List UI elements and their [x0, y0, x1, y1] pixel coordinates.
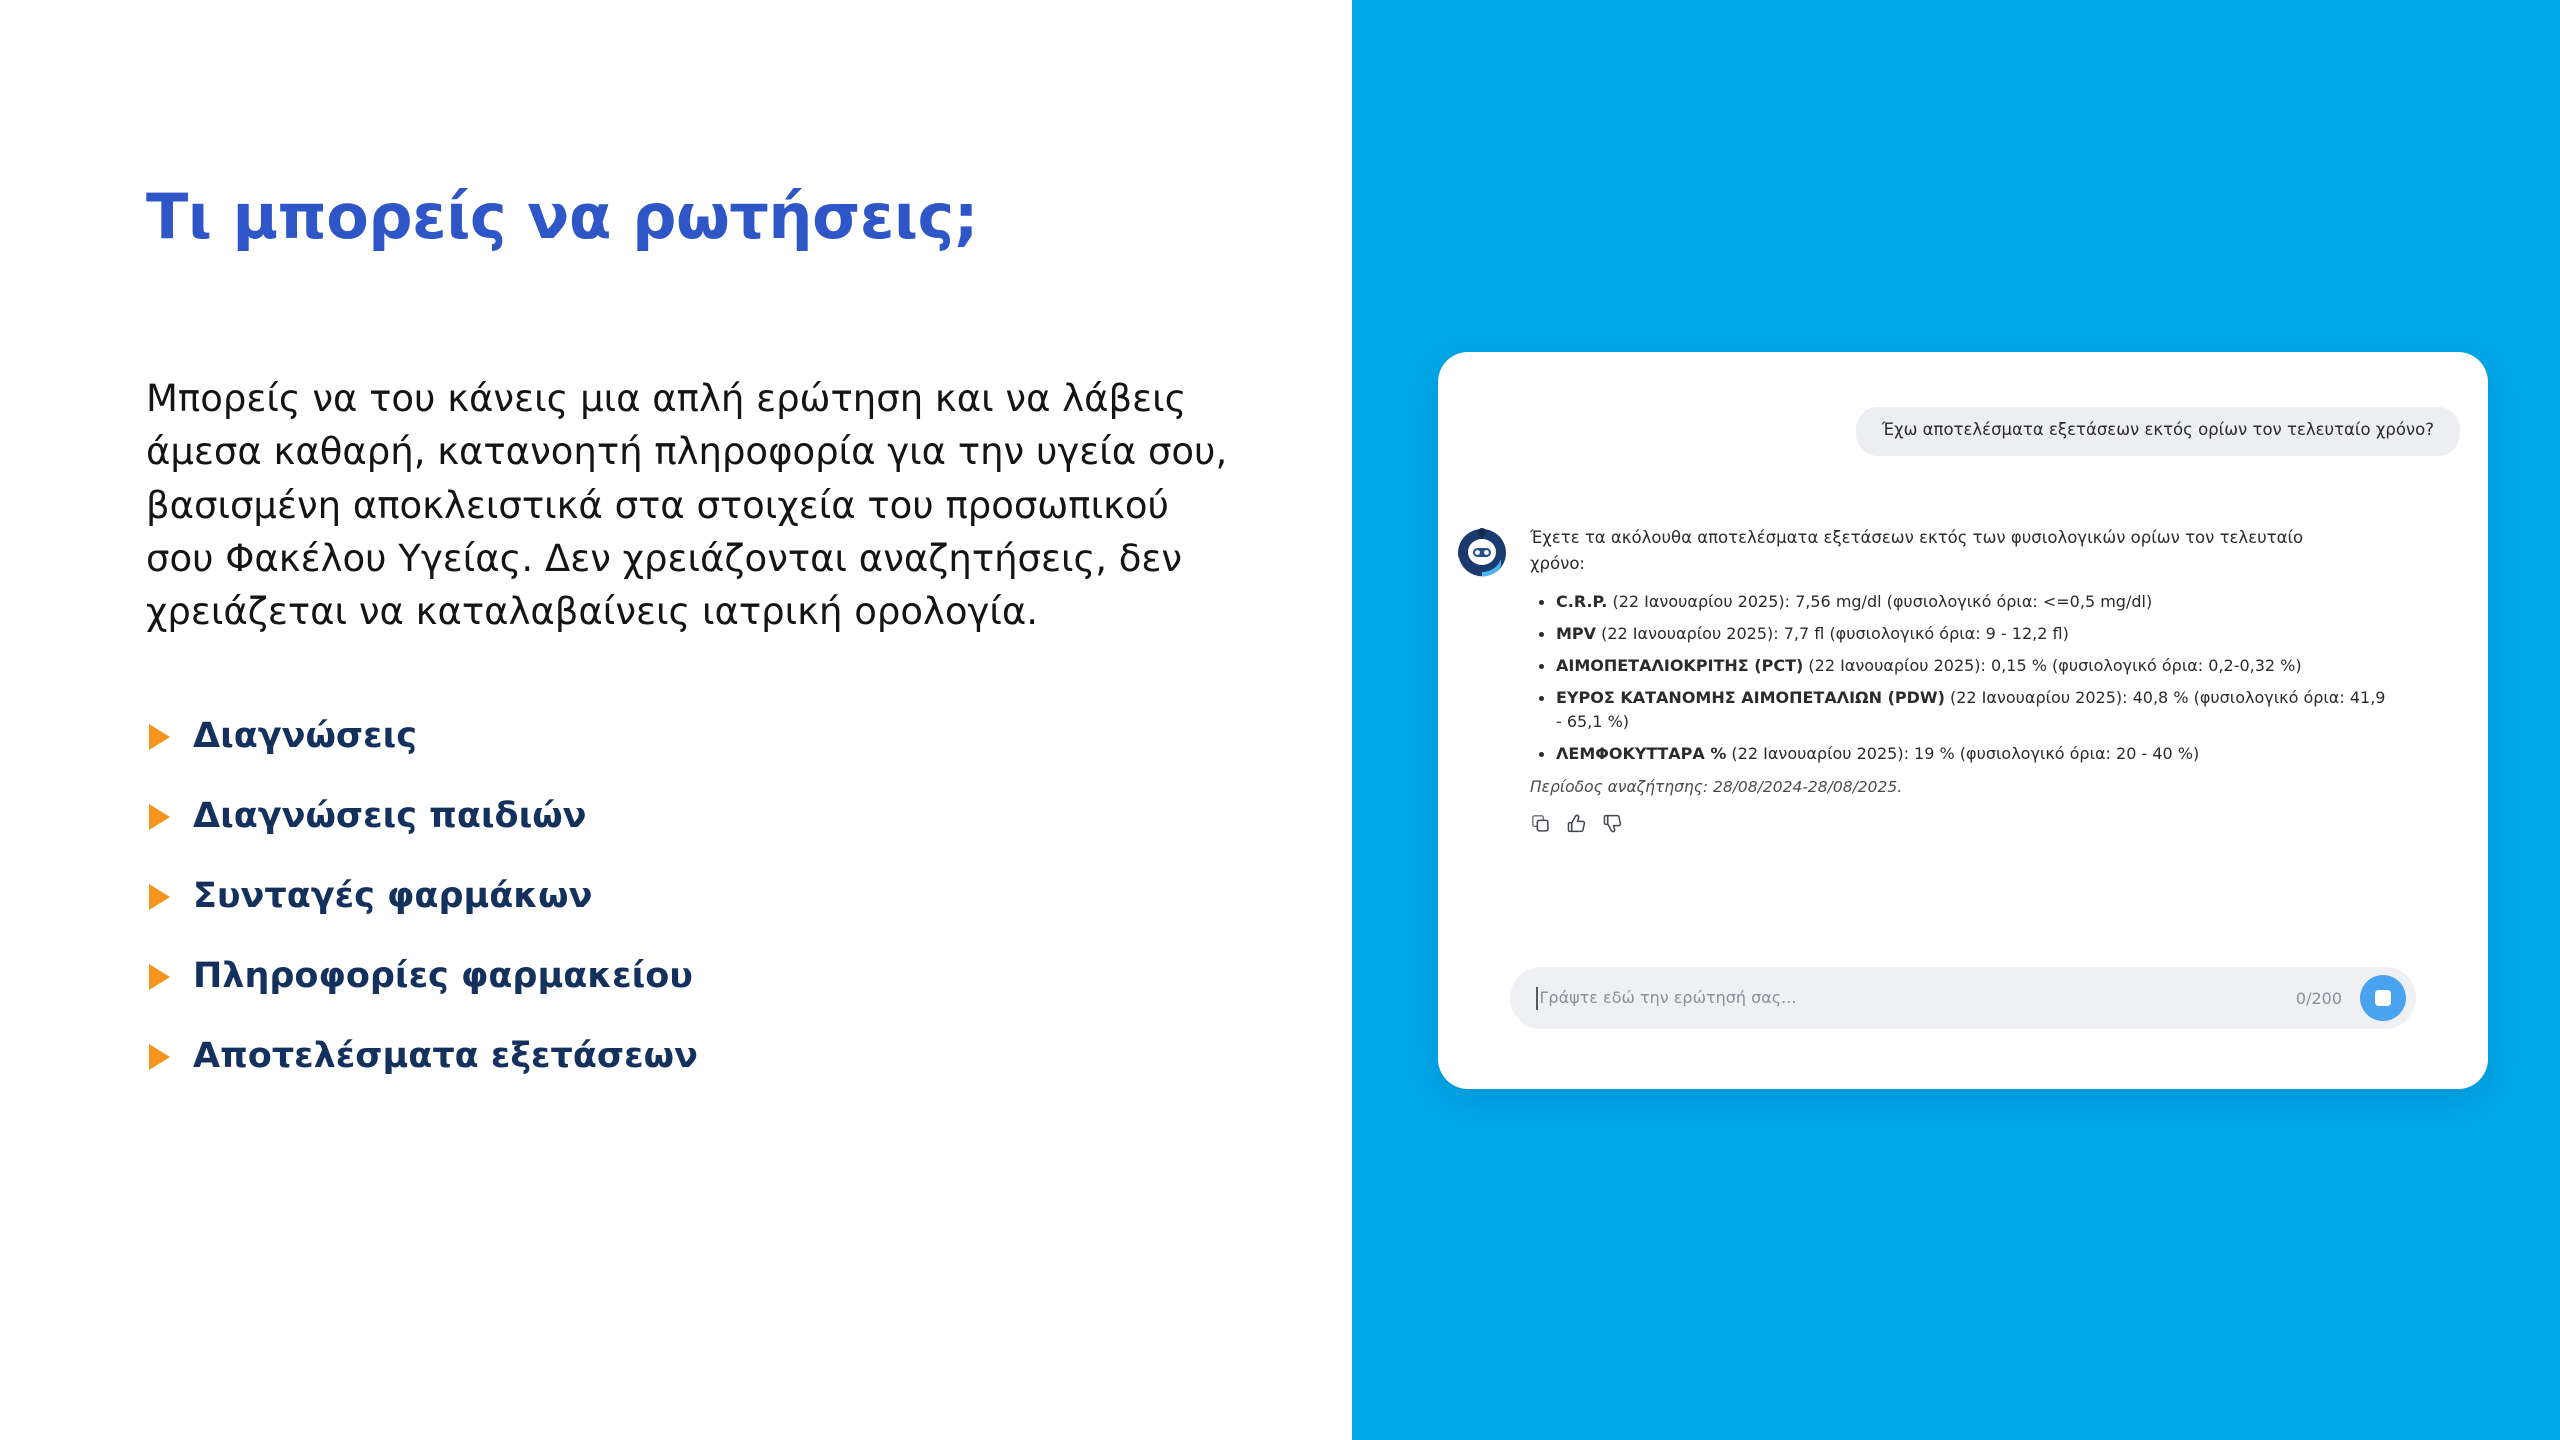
- bot-message-row: Έχετε τα ακόλουθα αποτελέσματα εξετάσεων…: [1456, 524, 2466, 834]
- list-item[interactable]: Συνταγές φαρμάκων: [146, 872, 1046, 921]
- abnormal-results-list: C.R.P. (22 Ιανουαρίου 2025): 7,56 mg/dl …: [1530, 590, 2466, 767]
- bot-intro-text: Έχετε τα ακόλουθα αποτελέσματα εξετάσεων…: [1530, 525, 2330, 576]
- result-name: ΕΥΡΟΣ ΚΑΤΑΝΟΜΗΣ ΑΙΜΟΠΕΤΑΛΙΩΝ (PDW): [1556, 688, 1945, 707]
- triangle-right-icon: [146, 722, 172, 752]
- feature-bullet-list: Διαγνώσεις Διαγνώσεις παιδιών Συνταγές φ…: [146, 712, 1046, 1112]
- slide-root: Τι μπορείς να ρωτήσεις; Μπορείς να του κ…: [0, 0, 2560, 1440]
- character-counter: 0/200: [2296, 989, 2342, 1008]
- search-period-note: Περίοδος αναζήτησης: 28/08/2024-28/08/20…: [1530, 778, 2466, 796]
- chat-input-bar[interactable]: Γράψτε εδώ την ερώτησή σας... 0/200: [1510, 967, 2416, 1029]
- list-item-label: Αποτελέσματα εξετάσεων: [193, 1039, 698, 1074]
- result-name: MPV: [1556, 624, 1596, 643]
- list-item[interactable]: Διαγνώσεις: [146, 712, 1046, 761]
- result-detail: (22 Ιανουαρίου 2025): 7,56 mg/dl (φυσιολ…: [1607, 592, 2152, 611]
- result-detail: (22 Ιανουαρίου 2025): 19 % (φυσιολογικό …: [1726, 744, 2199, 763]
- stop-square-icon: [2375, 990, 2391, 1006]
- result-name: ΑΙΜΟΠΕΤΑΛΙΟΚΡΙΤΗΣ (PCT): [1556, 656, 1803, 675]
- triangle-right-icon: [146, 802, 172, 832]
- result-row: ΑΙΜΟΠΕΤΑΛΙΟΚΡΙΤΗΣ (PCT) (22 Ιανουαρίου 2…: [1556, 654, 2386, 679]
- triangle-right-icon: [146, 1042, 172, 1072]
- result-row: ΛΕΜΦΟΚΥΤΤΑΡΑ % (22 Ιανουαρίου 2025): 19 …: [1556, 742, 2386, 767]
- triangle-right-icon: [146, 962, 172, 992]
- list-item[interactable]: Αποτελέσματα εξετάσεων: [146, 1032, 1046, 1081]
- list-item-label: Πληροφορίες φαρμακείου: [193, 959, 693, 994]
- send-button[interactable]: [2360, 975, 2406, 1021]
- copy-icon[interactable]: [1530, 813, 1551, 834]
- feedback-actions: [1530, 813, 2466, 834]
- page-title: Τι μπορείς να ρωτήσεις;: [146, 184, 978, 251]
- list-item[interactable]: Διαγνώσεις παιδιών: [146, 792, 1046, 841]
- list-item-label: Συνταγές φαρμάκων: [193, 879, 592, 914]
- chatbot-card: Έχω αποτελέσματα εξετάσεων εκτός ορίων τ…: [1438, 352, 2488, 1089]
- result-detail: (22 Ιανουαρίου 2025): 0,15 % (φυσιολογικ…: [1803, 656, 2301, 675]
- robot-avatar-icon: [1456, 526, 1508, 578]
- result-name: C.R.P.: [1556, 592, 1607, 611]
- thumbs-up-icon[interactable]: [1566, 813, 1587, 834]
- text-caret: [1536, 987, 1538, 1010]
- intro-paragraph: Μπορείς να του κάνεις μια απλή ερώτηση κ…: [146, 372, 1236, 638]
- left-content-column: Τι μπορείς να ρωτήσεις; Μπορείς να του κ…: [146, 0, 1296, 1440]
- result-name: ΛΕΜΦΟΚΥΤΤΑΡΑ %: [1556, 744, 1726, 763]
- list-item[interactable]: Πληροφορίες φαρμακείου: [146, 952, 1046, 1001]
- result-row: C.R.P. (22 Ιανουαρίου 2025): 7,56 mg/dl …: [1556, 590, 2386, 615]
- result-row: ΕΥΡΟΣ ΚΑΤΑΝΟΜΗΣ ΑΙΜΟΠΕΤΑΛΙΩΝ (PDW) (22 Ι…: [1556, 686, 2386, 736]
- chat-conversation: Έχω αποτελέσματα εξετάσεων εκτός ορίων τ…: [1438, 352, 2488, 1089]
- user-message-bubble: Έχω αποτελέσματα εξετάσεων εκτός ορίων τ…: [1856, 407, 2460, 456]
- chat-input-placeholder[interactable]: Γράψτε εδώ την ερώτησή σας...: [1540, 990, 2296, 1006]
- thumbs-down-icon[interactable]: [1602, 813, 1623, 834]
- bot-message-body: Έχετε τα ακόλουθα αποτελέσματα εξετάσεων…: [1530, 524, 2466, 834]
- triangle-right-icon: [146, 882, 172, 912]
- result-row: MPV (22 Ιανουαρίου 2025): 7,7 fl (φυσιολ…: [1556, 622, 2386, 647]
- list-item-label: Διαγνώσεις: [193, 719, 417, 754]
- result-detail: (22 Ιανουαρίου 2025): 7,7 fl (φυσιολογικ…: [1596, 624, 2069, 643]
- user-message-row: Έχω αποτελέσματα εξετάσεων εκτός ορίων τ…: [1856, 407, 2460, 456]
- list-item-label: Διαγνώσεις παιδιών: [193, 799, 587, 834]
